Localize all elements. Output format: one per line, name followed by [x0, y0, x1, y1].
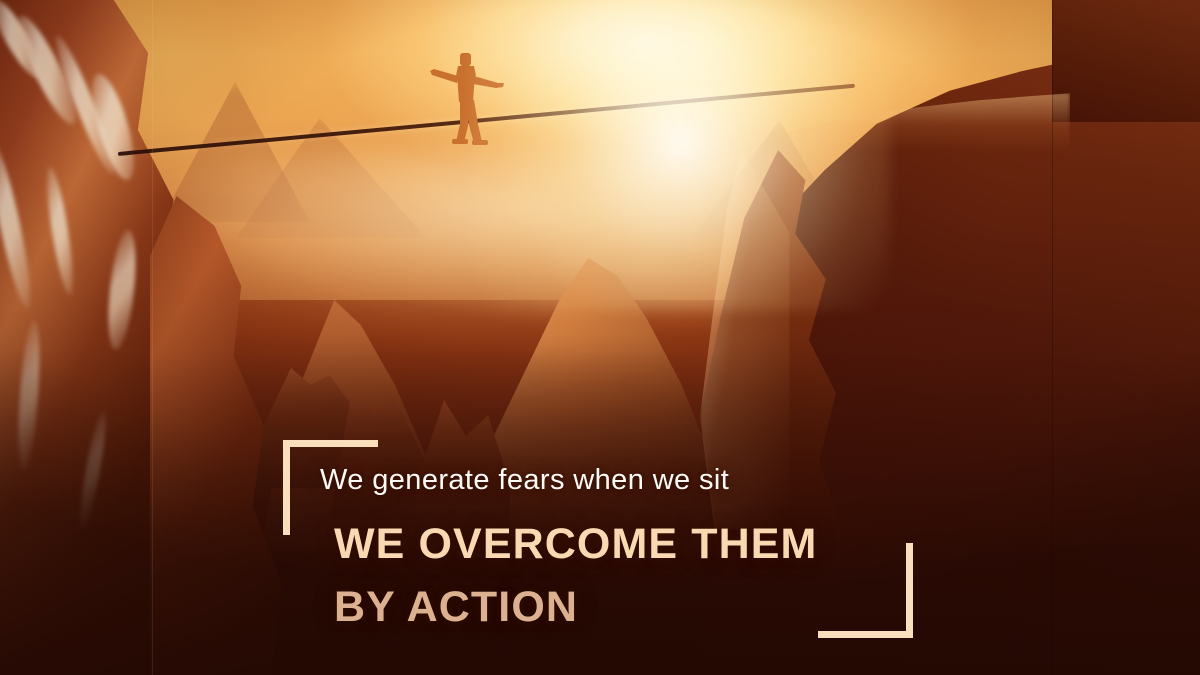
rock-highlight-streak — [76, 410, 111, 531]
rock-highlight-streak — [104, 229, 140, 351]
quote-text-block: We generate fears when we sit WE OVERCOM… — [283, 440, 913, 638]
rock-highlight-streak — [15, 320, 43, 471]
tightrope-walker-silhouette — [412, 50, 522, 150]
rock-highlight-streak — [42, 166, 78, 297]
quote-line-2: WE OVERCOME THEM — [334, 520, 817, 569]
corner-bracket-bottom-right-icon — [818, 543, 913, 638]
rock-highlight-streak — [0, 140, 37, 310]
quote-banner: We generate fears when we sit WE OVERCOM… — [0, 0, 1200, 675]
quote-line-1: We generate fears when we sit — [320, 464, 729, 497]
right-cliff-top-edge — [1052, 0, 1200, 122]
quote-line-3: BY ACTION — [334, 583, 578, 632]
